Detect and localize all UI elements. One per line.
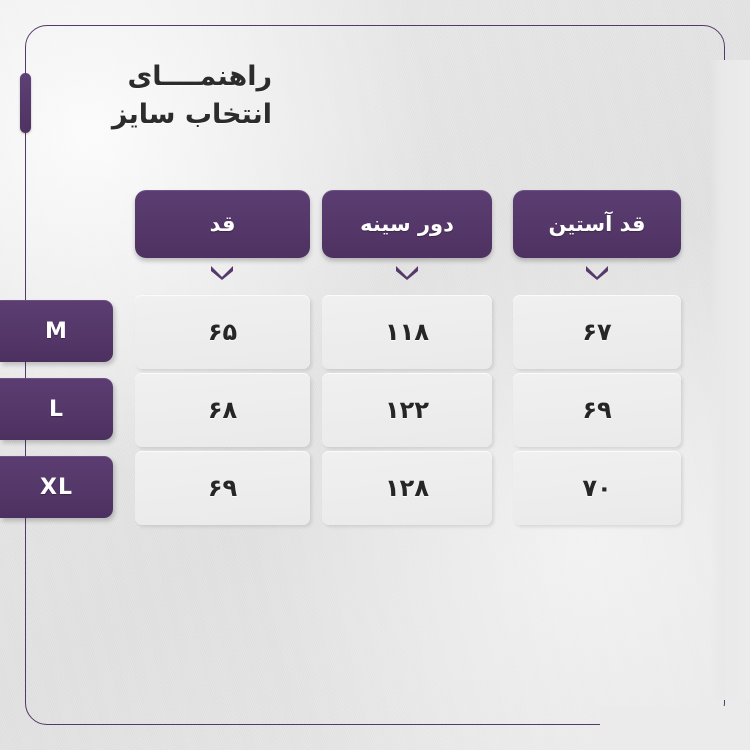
page-title-line-2: انتخاب سایز (12, 96, 272, 134)
chevron-down-icon (394, 264, 420, 280)
size-tab-m[interactable]: M (0, 300, 113, 362)
size-tab-xl[interactable]: XL (0, 456, 113, 518)
table-cell: ۱۱۸ (322, 295, 492, 369)
size-tab-l[interactable]: L (0, 378, 113, 440)
column-header-chest[interactable]: دور سینه (322, 190, 492, 258)
table-cell: ۶۹ (135, 451, 310, 525)
frame-gap-bottom-right (600, 706, 750, 750)
table-cell: ۱۲۲ (322, 373, 492, 447)
page-title: راهنمــــای انتخاب سایز (12, 58, 272, 135)
table-cell: ۶۹ (513, 373, 681, 447)
frame-fade-right (710, 60, 750, 700)
table-cell: ۱۲۸ (322, 451, 492, 525)
column-header-length[interactable]: قد (135, 190, 310, 258)
table-cell: ۶۸ (135, 373, 310, 447)
table-cell: ۷۰ (513, 451, 681, 525)
column-header-sleeve-length[interactable]: قد آستین (513, 190, 681, 258)
page-title-line-1: راهنمــــای (12, 58, 272, 96)
table-cell: ۶۵ (135, 295, 310, 369)
chevron-down-icon (584, 264, 610, 280)
chevron-down-icon (209, 264, 235, 280)
table-cell: ۶۷ (513, 295, 681, 369)
size-guide-canvas: راهنمــــای انتخاب سایز قد دور سینه قد آ… (0, 0, 750, 750)
